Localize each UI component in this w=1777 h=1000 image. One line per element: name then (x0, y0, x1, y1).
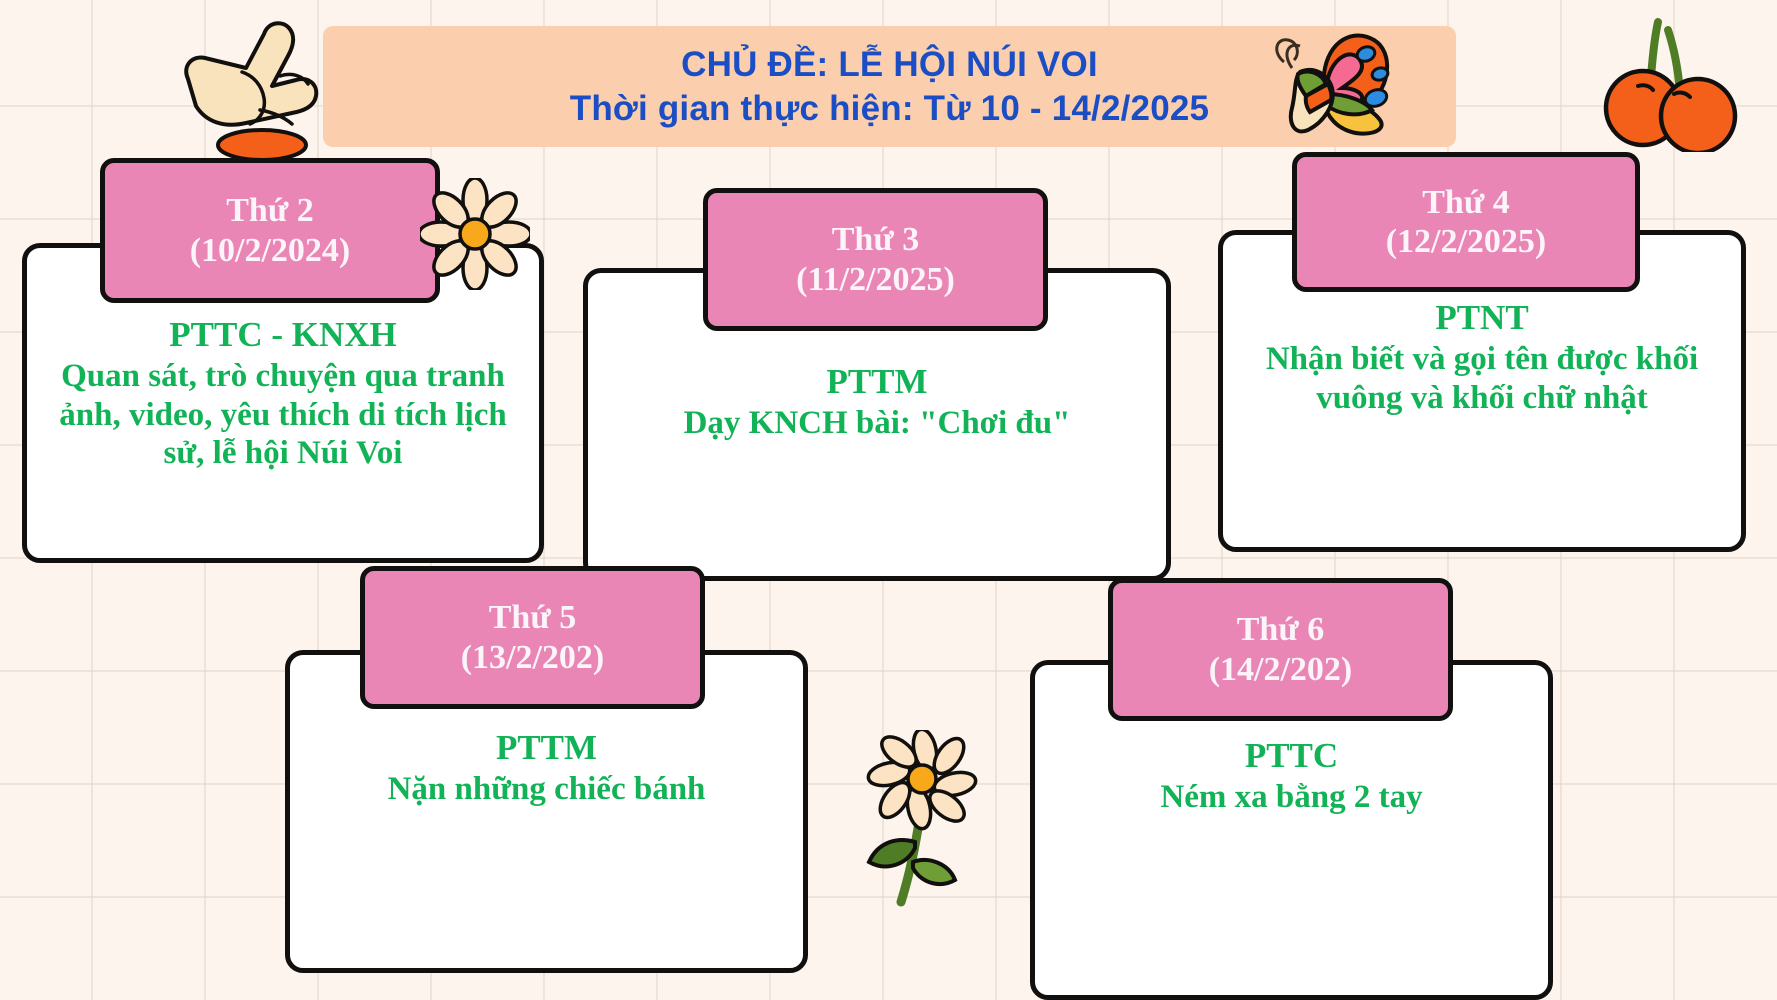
day-tag-tuesday-date: (11/2/2025) (796, 260, 955, 299)
day-card-friday-code: PTTC (1045, 735, 1538, 776)
day-tag-monday[interactable]: Thứ 2 (10/2/2024) (100, 158, 440, 303)
day-card-wednesday-code: PTNT (1233, 297, 1731, 338)
day-tag-thursday-date: (13/2/202) (461, 638, 605, 677)
banner-title: CHỦ ĐỀ: LỄ HỘI NÚI VOI (681, 45, 1098, 84)
hand-shaka-icon (176, 14, 341, 162)
day-card-tuesday-code: PTTM (598, 361, 1156, 402)
day-card-friday-description: Ném xa bằng 2 tay (1045, 778, 1538, 816)
day-card-thursday-body: PTTM Nặn những chiếc bánh (290, 727, 803, 809)
daisy-flower-stem-icon (855, 730, 995, 910)
day-tag-monday-date: (10/2/2024) (190, 231, 351, 270)
day-tag-tuesday[interactable]: Thứ 3 (11/2/2025) (703, 188, 1048, 331)
day-tag-thursday[interactable]: Thứ 5 (13/2/202) (360, 566, 705, 709)
day-tag-wednesday-day: Thứ 4 (1422, 183, 1510, 222)
header-banner: CHỦ ĐỀ: LỄ HỘI NÚI VOI Thời gian thực hi… (323, 26, 1456, 147)
day-tag-wednesday[interactable]: Thứ 4 (12/2/2025) (1292, 152, 1640, 292)
day-tag-thursday-day: Thứ 5 (489, 598, 577, 637)
day-card-friday-body: PTTC Ném xa bằng 2 tay (1035, 735, 1548, 817)
day-tag-friday-date: (14/2/202) (1209, 650, 1353, 689)
day-tag-friday-day: Thứ 6 (1237, 610, 1325, 649)
cherries-icon (1598, 12, 1746, 152)
day-card-monday-code: PTTC - KNXH (37, 314, 529, 355)
day-card-monday-description: Quan sát, trò chuyện qua tranh ảnh, vide… (37, 357, 529, 472)
day-card-thursday-description: Nặn những chiếc bánh (300, 770, 793, 808)
banner-subtitle: Thời gian thực hiện: Từ 10 - 14/2/2025 (570, 89, 1209, 128)
day-card-wednesday-description: Nhận biết và gọi tên được khối vuông và … (1233, 340, 1731, 417)
day-tag-tuesday-day: Thứ 3 (832, 220, 920, 259)
day-card-wednesday-body: PTNT Nhận biết và gọi tên được khối vuôn… (1223, 297, 1741, 417)
day-tag-monday-day: Thứ 2 (226, 191, 314, 230)
day-card-tuesday-description: Dạy KNCH bài: "Chơi đu" (598, 404, 1156, 442)
day-card-monday-body: PTTC - KNXH Quan sát, trò chuyện qua tra… (27, 314, 539, 472)
day-tag-wednesday-date: (12/2/2025) (1386, 222, 1547, 261)
weekly-plan-board: CHỦ ĐỀ: LỄ HỘI NÚI VOI Thời gian thực hi… (0, 0, 1777, 1000)
day-card-tuesday-body: PTTM Dạy KNCH bài: "Chơi đu" (588, 361, 1166, 443)
day-tag-friday[interactable]: Thứ 6 (14/2/202) (1108, 578, 1453, 721)
day-card-thursday-code: PTTM (300, 727, 793, 768)
